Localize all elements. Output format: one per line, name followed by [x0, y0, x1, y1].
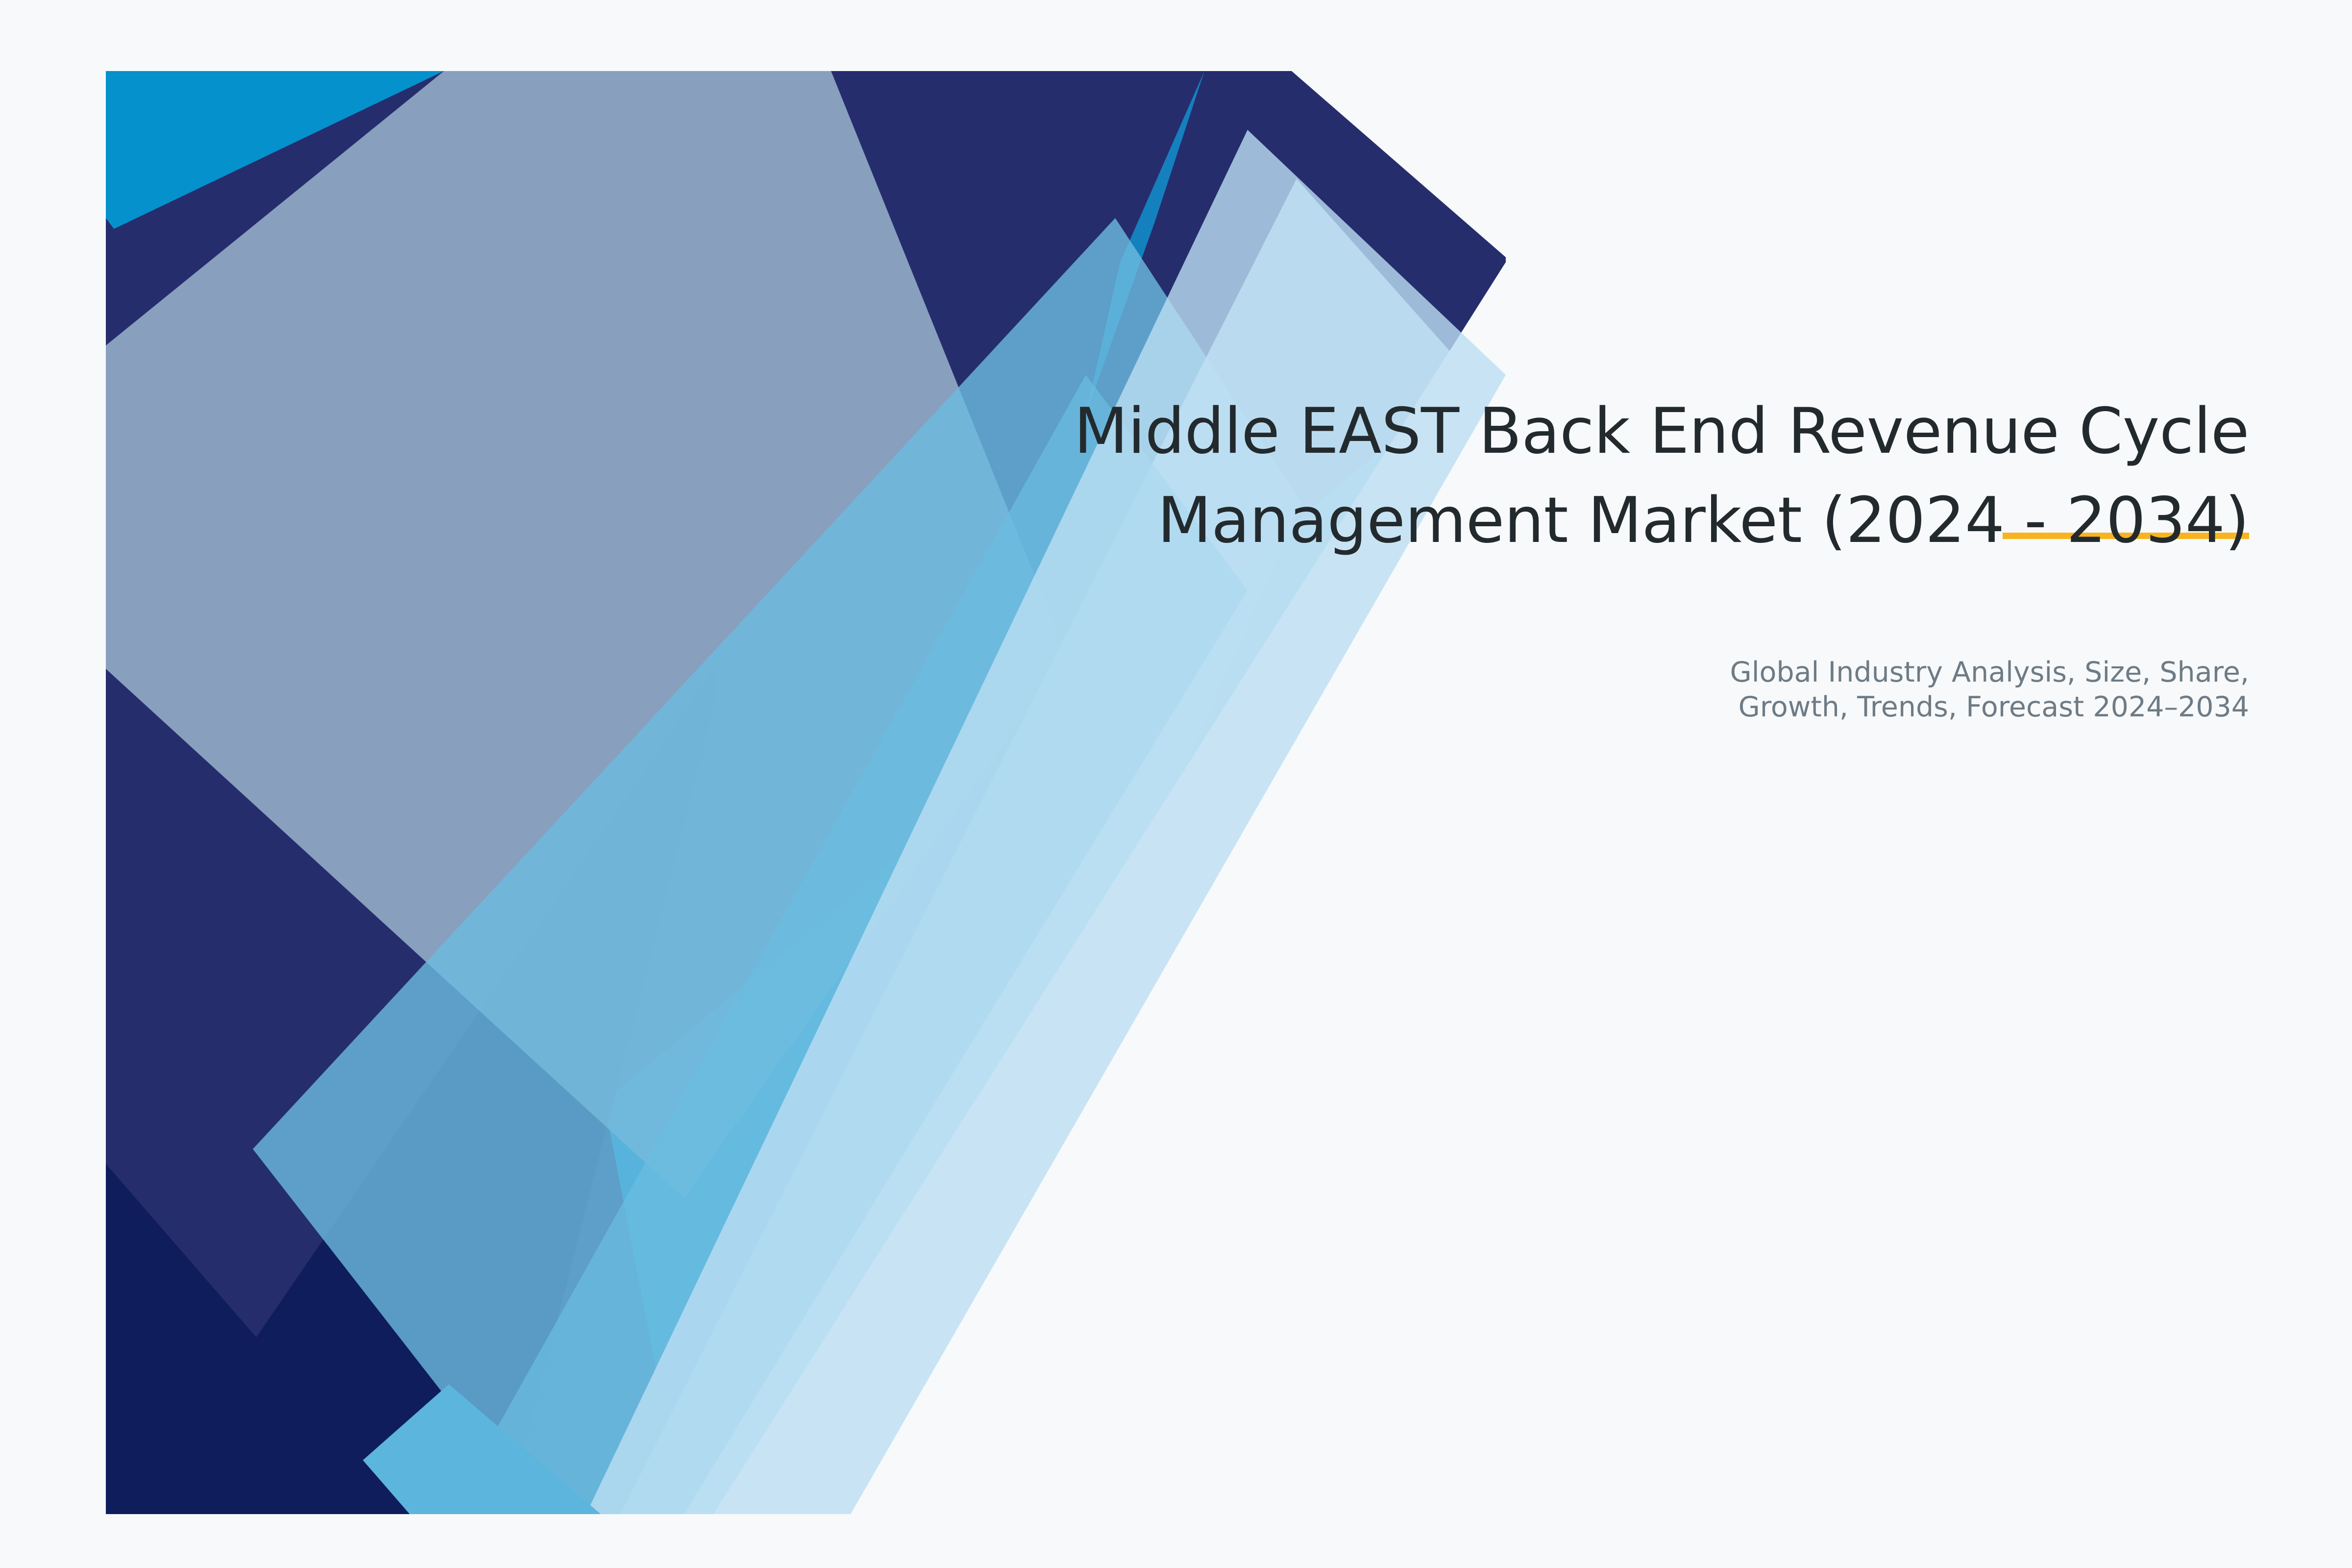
title-block: Middle EAST Back End Revenue Cycle Manag…	[735, 387, 2249, 565]
page-title: Middle EAST Back End Revenue Cycle Manag…	[735, 387, 2249, 565]
abstract-geometric-artwork	[106, 71, 1506, 1514]
artwork-svg	[106, 71, 1506, 1514]
cover-page: Middle EAST Back End Revenue Cycle Manag…	[0, 0, 2352, 1568]
page-subtitle: Global Industry Analysis, Size, Share, G…	[1372, 655, 2249, 725]
